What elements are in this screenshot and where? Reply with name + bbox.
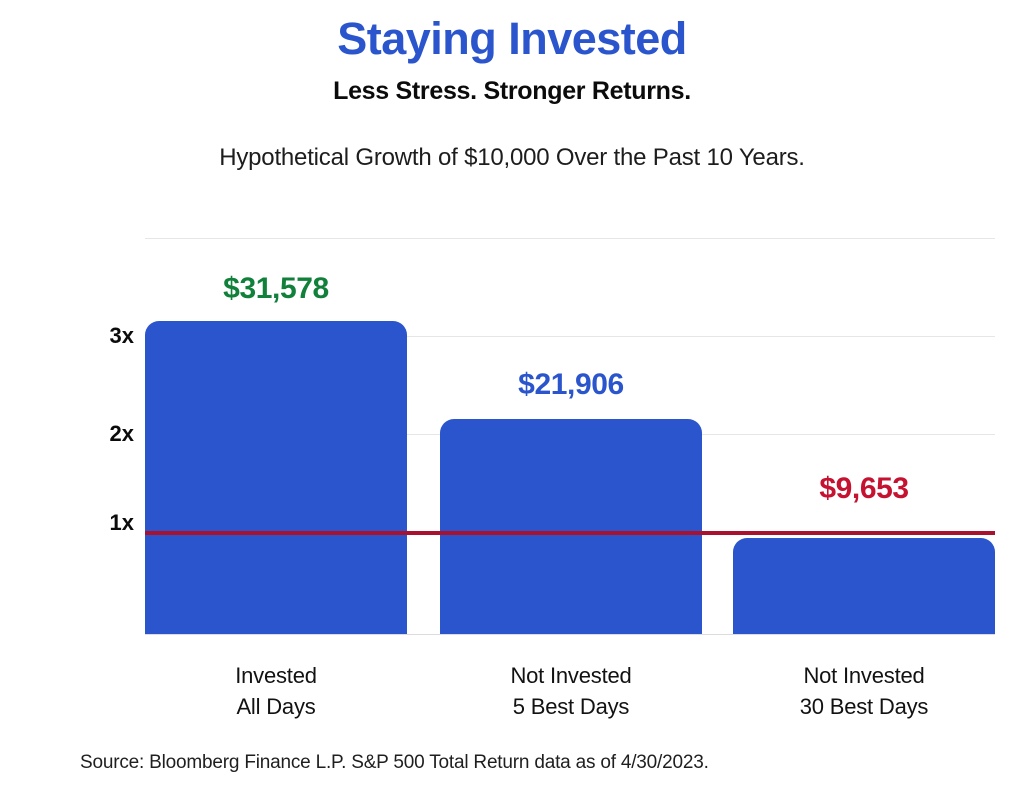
axis-tick-label-3x: 3x: [62, 323, 134, 349]
breakeven-reference-line: [145, 531, 995, 535]
category-line-1: Invested: [145, 660, 407, 691]
category-label-not-invested-5-best-days: Not Invested 5 Best Days: [440, 660, 702, 722]
axis-tick-label-2x: 2x: [62, 421, 134, 447]
axis-tick-label-1x: 1x: [62, 510, 134, 536]
source-note: Source: Bloomberg Finance L.P. S&P 500 T…: [80, 752, 709, 774]
bar-not-invested-30-best-days[interactable]: [733, 538, 995, 634]
axis-baseline: [145, 634, 995, 635]
category-line-2: All Days: [145, 691, 407, 722]
category-line-1: Not Invested: [440, 660, 702, 691]
bar-chart-plot: 3x 2x 1x $31,578 $21,906 $9,653 Invested…: [0, 0, 1024, 791]
gridline-top: [145, 238, 995, 239]
bar-value-label-invested-all-days: $31,578: [145, 272, 407, 306]
bar-value-label-not-invested-5-best-days: $21,906: [440, 368, 702, 402]
category-line-1: Not Invested: [733, 660, 995, 691]
category-line-2: 30 Best Days: [733, 691, 995, 722]
category-line-2: 5 Best Days: [440, 691, 702, 722]
bar-value-label-not-invested-30-best-days: $9,653: [733, 472, 995, 506]
bar-not-invested-5-best-days[interactable]: [440, 419, 702, 634]
category-label-invested-all-days: Invested All Days: [145, 660, 407, 722]
category-label-not-invested-30-best-days: Not Invested 30 Best Days: [733, 660, 995, 722]
bar-invested-all-days[interactable]: [145, 321, 407, 634]
